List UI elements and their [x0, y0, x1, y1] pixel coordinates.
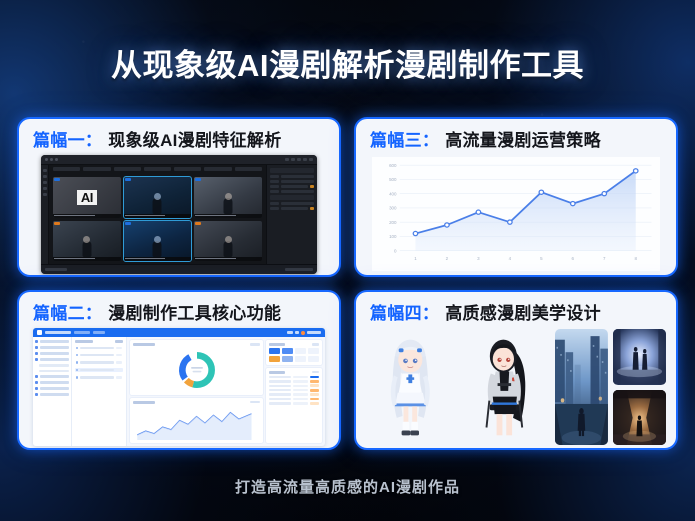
avatar[interactable]: [301, 331, 305, 335]
sidebar-subitem[interactable]: [35, 370, 69, 373]
dashboard-center-column: [127, 337, 266, 446]
thumbnail-caption: [124, 257, 192, 261]
dashboard-sidebar[interactable]: [33, 337, 72, 446]
card-two-section-title: 漫剧制作工具核心功能: [108, 299, 281, 324]
quick-action-tile[interactable]: [295, 348, 306, 354]
chart-point[interactable]: [633, 169, 637, 173]
statusbar-right: [285, 268, 313, 271]
panel-header: [269, 343, 319, 346]
editor-left-rail[interactable]: [41, 165, 49, 264]
scene-warm-corridor-svg: [613, 390, 666, 446]
thumbnail-figure: [153, 198, 162, 214]
thumbnail-caption: [124, 214, 192, 218]
sidebar-item[interactable]: [35, 346, 69, 349]
table-row[interactable]: [269, 389, 319, 392]
panel-header: [269, 371, 319, 374]
dashboard-main: [33, 337, 325, 446]
header-action-icon[interactable]: [287, 331, 293, 334]
editor-center: AI: [49, 165, 266, 264]
dashboard-breadcrumb: [93, 331, 105, 334]
thumbnail-caption: [194, 214, 262, 218]
dashboard-app-name: [45, 331, 71, 334]
donut-chart-panel[interactable]: [130, 340, 263, 395]
card-one-section-title: 现象级AI漫剧特征解析: [108, 126, 281, 151]
art-gallery: [366, 329, 666, 445]
donut-chart: [133, 348, 260, 392]
editor-titlebar: [41, 155, 317, 165]
thumbnail-caption: [194, 257, 262, 261]
thumbnail-badge-icon: [195, 178, 201, 181]
statusbar-left: [45, 268, 67, 271]
table-row[interactable]: [269, 376, 319, 379]
video-editor-screenshot: AI: [41, 155, 317, 274]
thumbnail-item[interactable]: AI: [53, 177, 121, 218]
scene-warm-corridor[interactable]: [613, 390, 666, 446]
thumbnail-item[interactable]: [194, 177, 262, 218]
dashboard-breadcrumb: [74, 331, 90, 334]
quick-action-tile[interactable]: [282, 348, 293, 354]
editor-main: AI: [41, 165, 317, 264]
list-item[interactable]: [75, 346, 123, 350]
editor-statusbar: [41, 264, 317, 274]
editor-thumbnail-grid[interactable]: AI: [49, 174, 266, 264]
quick-action-tile[interactable]: [308, 356, 319, 362]
thumbnail-badge-icon: [125, 222, 131, 225]
properties-row[interactable]: [270, 190, 314, 193]
chart-point[interactable]: [539, 190, 543, 194]
chart-point[interactable]: [602, 192, 606, 196]
line-chart-svg: 0100200300400500600 12345678: [372, 157, 660, 271]
scene-light-portal-svg: [613, 329, 666, 385]
card-four-section-title: 高质感漫剧美学设计: [445, 299, 601, 324]
scene-light-portal[interactable]: [613, 329, 666, 385]
properties-section-header: [270, 195, 314, 200]
table-row[interactable]: [269, 380, 319, 383]
sidebar-item[interactable]: [35, 393, 69, 396]
sidebar-item[interactable]: [35, 381, 69, 384]
character-white-haired-svg: [366, 329, 455, 445]
dashboard-right-column: [266, 337, 325, 446]
thumbnail-badge-icon: [54, 178, 60, 181]
character-white-haired[interactable]: [366, 329, 455, 445]
card-grid: 篇幅一： 现象级AI漫剧特征解析: [17, 117, 678, 462]
scene-gallery: [555, 329, 666, 445]
thumbnail-figure: [224, 241, 233, 257]
card-four-header: 篇幅四： 高质感漫剧美学设计: [356, 292, 676, 328]
chart-point[interactable]: [571, 201, 575, 205]
thumbnail-figure: [153, 241, 162, 257]
card-two-header: 篇幅二： 漫剧制作工具核心功能: [19, 292, 339, 328]
dashboard-header: [33, 328, 325, 337]
panel-header: [133, 401, 260, 404]
editor-properties-panel[interactable]: [266, 165, 317, 264]
thumbnail-figure: [224, 198, 233, 214]
character-black-haired-svg: [461, 329, 550, 445]
table-row[interactable]: [269, 384, 319, 387]
bell-icon[interactable]: [295, 331, 299, 334]
quick-action-tile[interactable]: [295, 356, 306, 362]
scene-city-street[interactable]: [555, 329, 608, 445]
thumbnail-badge-icon: [195, 222, 201, 225]
thumbnail-figure: [82, 241, 91, 257]
list-item-selected[interactable]: [75, 368, 123, 372]
quick-action-tile[interactable]: [282, 356, 293, 362]
svg-text:200: 200: [389, 220, 397, 225]
card-three-header: 篇幅三： 高流量漫剧运营策略: [356, 119, 676, 155]
list-item[interactable]: [75, 360, 123, 364]
thumbnail-item[interactable]: [194, 221, 262, 262]
thumbnail-caption: [53, 214, 121, 218]
thumbnail-item[interactable]: [124, 177, 192, 218]
thumbnail-item[interactable]: [124, 221, 192, 262]
traffic-line-chart[interactable]: 0100200300400500600 12345678: [372, 157, 660, 271]
table-row[interactable]: [269, 398, 319, 401]
svg-text:400: 400: [389, 191, 397, 196]
card-two-body: [19, 328, 339, 448]
recent-table-panel[interactable]: [266, 368, 322, 443]
page-title: 从现象级AI漫剧解析漫剧制作工具: [0, 46, 695, 86]
chart-point[interactable]: [476, 210, 480, 214]
thumbnail-item[interactable]: [53, 221, 121, 262]
thumbnail-caption: [53, 257, 121, 261]
chart-point[interactable]: [508, 220, 512, 224]
editor-tab-strip[interactable]: [49, 165, 266, 174]
chart-point[interactable]: [413, 231, 417, 235]
properties-row[interactable]: [270, 185, 314, 188]
list-column-header: [75, 340, 123, 343]
dashboard-username: [307, 331, 321, 334]
properties-row[interactable]: [270, 202, 314, 205]
thumbnail-badge-icon: [54, 222, 60, 225]
sidebar-item[interactable]: [35, 387, 69, 390]
slide-canvas: 从现象级AI漫剧解析漫剧制作工具 篇幅一： 现象级AI漫剧特征解析: [0, 0, 695, 521]
sidebar-item[interactable]: [35, 375, 69, 378]
editor-window-dots: [45, 158, 58, 161]
dashboard-header-right[interactable]: [287, 331, 321, 335]
dashboard-header-left: [37, 330, 105, 335]
card-one-body: AI: [19, 155, 339, 275]
thumbnail-ai-label: AI: [77, 190, 97, 205]
properties-row[interactable]: [270, 207, 314, 210]
scene-column: [613, 329, 666, 445]
svg-text:100: 100: [389, 234, 397, 239]
properties-row[interactable]: [270, 175, 314, 178]
editor-titlebar-tools: [285, 158, 313, 161]
card-section-one[interactable]: 篇幅一： 现象级AI漫剧特征解析: [17, 117, 341, 277]
svg-text:500: 500: [389, 177, 397, 182]
area-chart-panel[interactable]: [130, 398, 263, 443]
app-logo-icon: [37, 330, 42, 335]
quick-action-grid[interactable]: [269, 348, 319, 362]
sidebar-item[interactable]: [35, 352, 69, 355]
card-section-two[interactable]: 篇幅二： 漫剧制作工具核心功能: [17, 290, 341, 450]
card-four-body: [356, 328, 676, 448]
sidebar-subitem[interactable]: [35, 364, 69, 367]
card-one-section-number: 篇幅一：: [33, 126, 102, 151]
properties-row[interactable]: [270, 180, 314, 183]
quick-actions-panel[interactable]: [266, 340, 322, 365]
quick-action-tile[interactable]: [269, 356, 280, 362]
list-item[interactable]: [75, 375, 123, 379]
card-section-three[interactable]: 篇幅三： 高流量漫剧运营策略 010020030040050: [354, 117, 678, 277]
table-row[interactable]: [269, 402, 319, 405]
svg-text:300: 300: [389, 206, 397, 211]
admin-dashboard-screenshot: [33, 328, 325, 446]
scene-city-street-svg: [555, 329, 608, 445]
card-two-section-number: 篇幅二：: [33, 299, 102, 324]
quick-action-tile[interactable]: [269, 348, 280, 354]
svg-text:600: 600: [389, 163, 397, 168]
quick-action-tile[interactable]: [308, 348, 319, 354]
footer-caption: 打造高流量高质感的AI漫剧作品: [0, 476, 695, 497]
dashboard-list-column[interactable]: [72, 337, 127, 446]
card-three-section-number: 篇幅三：: [370, 126, 439, 151]
panel-header: [133, 343, 260, 346]
card-three-section-title: 高流量漫剧运营策略: [445, 126, 601, 151]
sidebar-item[interactable]: [35, 340, 69, 343]
card-section-four[interactable]: 篇幅四： 高质感漫剧美学设计: [354, 290, 678, 450]
properties-section-header: [270, 168, 314, 173]
list-item[interactable]: [75, 353, 123, 357]
area-chart-svg: [133, 406, 260, 440]
card-three-body: 0100200300400500600 12345678: [356, 155, 676, 275]
thumbnail-badge-icon: [125, 178, 131, 181]
donut-chart-svg: [175, 348, 219, 392]
table-row[interactable]: [269, 393, 319, 396]
sidebar-item[interactable]: [35, 358, 69, 361]
card-four-section-number: 篇幅四：: [370, 299, 439, 324]
chart-point[interactable]: [445, 223, 449, 227]
card-one-header: 篇幅一： 现象级AI漫剧特征解析: [19, 119, 339, 155]
character-black-haired[interactable]: [461, 329, 550, 445]
